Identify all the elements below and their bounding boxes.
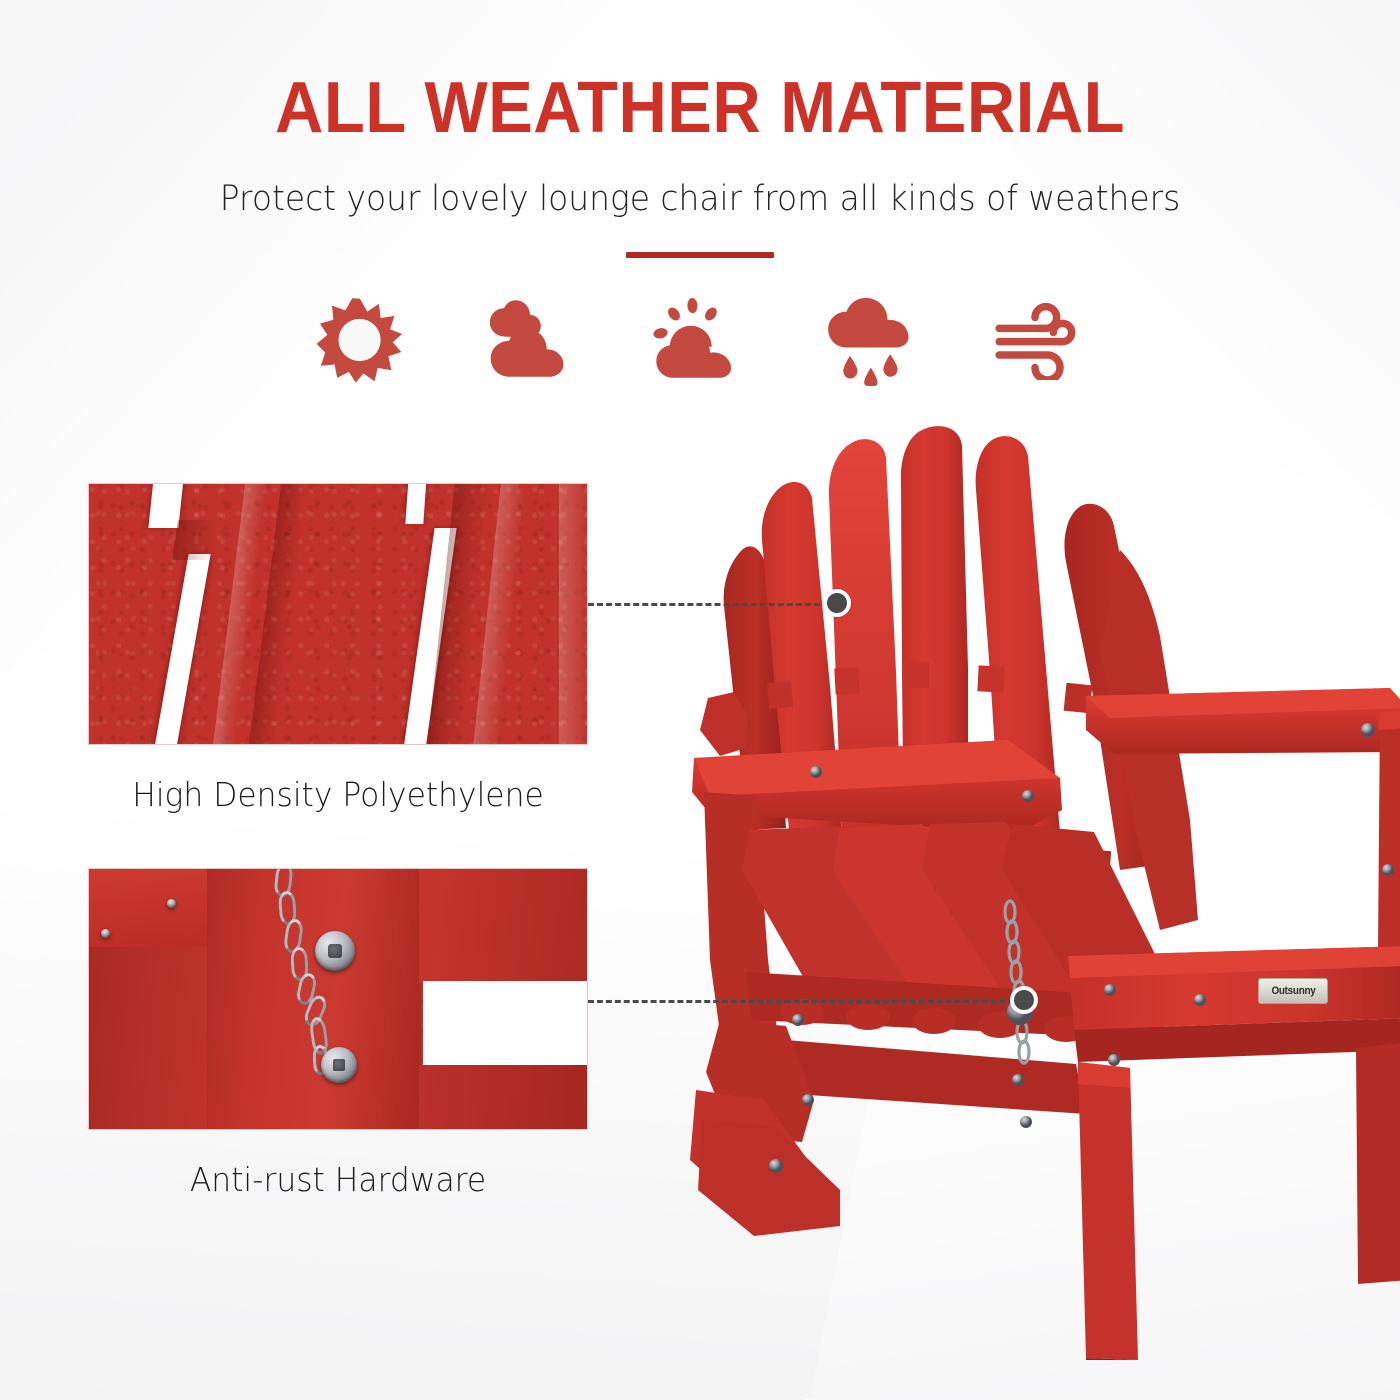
brand-plate: Outsunny — [1258, 978, 1328, 1004]
connector-line-hdpe — [588, 603, 838, 606]
callout-hdpe-caption: High Density Polyethylene — [101, 775, 576, 814]
wind-icon — [990, 292, 1090, 388]
sun-icon — [310, 292, 410, 388]
slat-closeup-image — [89, 484, 587, 744]
connector-dot-hardware — [1010, 986, 1038, 1014]
callout-hardware-photo — [88, 868, 588, 1130]
rain-cloud-icon — [820, 292, 920, 388]
callout-hardware: Anti-rust Hardware — [88, 868, 588, 1199]
partly-cloudy-icon — [650, 292, 750, 388]
hardware-closeup-image — [89, 869, 587, 1129]
infographic-page: ALL WEATHER MATERIAL Protect your lovely… — [0, 0, 1400, 1400]
connector-line-hardware — [588, 1000, 1032, 1003]
clouds-icon — [480, 292, 580, 388]
page-subtitle: Protect your lovely lounge chair from al… — [42, 182, 1358, 217]
connector-dot-hdpe — [823, 589, 851, 617]
title-divider — [626, 252, 774, 258]
callout-hdpe-photo — [88, 483, 588, 745]
brand-plate-text: Outsunny — [1271, 985, 1315, 997]
header: ALL WEATHER MATERIAL Protect your lovely… — [0, 0, 1400, 258]
product-image-adirondack-chair — [690, 400, 1400, 1360]
weather-icon-row — [0, 292, 1400, 388]
callout-hardware-caption: Anti-rust Hardware — [101, 1160, 576, 1199]
page-title: ALL WEATHER MATERIAL — [49, 72, 1351, 144]
callout-hdpe: High Density Polyethylene — [88, 483, 588, 814]
